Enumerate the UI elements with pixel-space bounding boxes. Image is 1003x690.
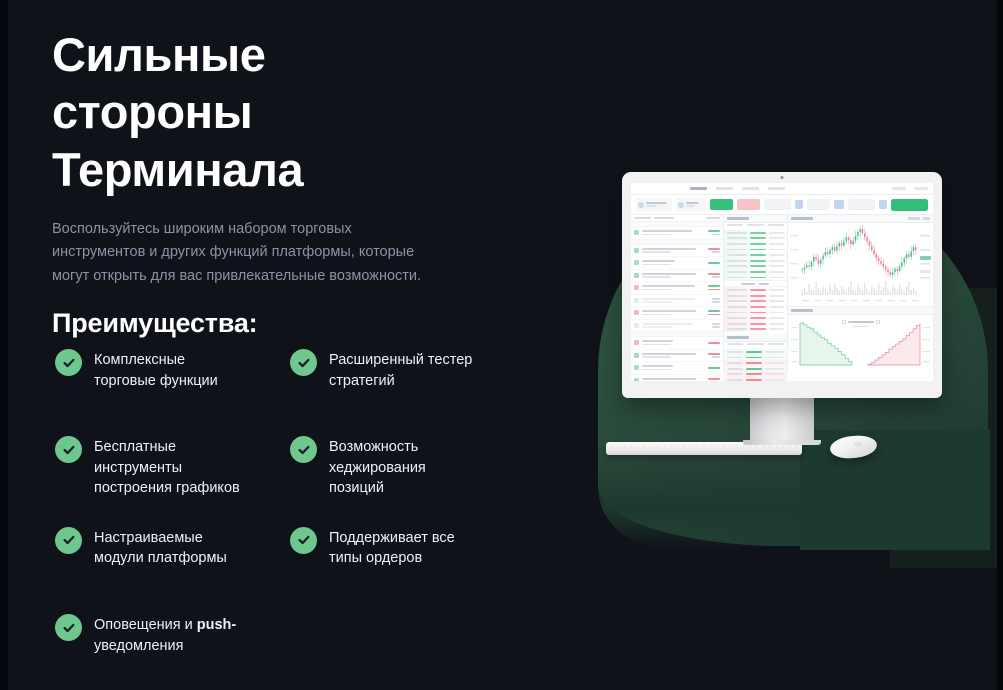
- col-time: [768, 343, 784, 345]
- status-icon: [634, 230, 639, 235]
- pair-selector[interactable]: [676, 198, 707, 211]
- depth-legend: [842, 320, 880, 327]
- order-values: [708, 248, 720, 253]
- keyboard-keys: [611, 445, 797, 449]
- order-type-field[interactable]: [764, 199, 791, 210]
- order-label: [642, 273, 705, 278]
- status-icon: [634, 340, 639, 345]
- market-depth-header: [788, 307, 933, 315]
- order-label: [642, 353, 705, 358]
- hero-description: Воспользуйтесь широким набором торговых …: [52, 218, 504, 288]
- list-item-label: Бесплатные инструменты построения график…: [94, 435, 240, 499]
- benefits-list: Комплексные торговые функции Бесплатные …: [55, 348, 535, 656]
- amount-unit-chip[interactable]: [834, 200, 845, 209]
- charts-column: [788, 215, 933, 372]
- status-icon: [634, 273, 639, 278]
- order-values: [712, 298, 720, 303]
- status-icon: [634, 298, 639, 303]
- status-icon: [634, 310, 639, 315]
- order-list-filters[interactable]: [631, 215, 723, 222]
- table-row[interactable]: [631, 350, 723, 363]
- list-item-label-bold: push-: [197, 617, 236, 633]
- trade-history-columns: [724, 342, 787, 349]
- filter-sort[interactable]: [706, 217, 720, 219]
- topbar-action-1[interactable]: [892, 187, 906, 190]
- order-label: [642, 248, 705, 253]
- check-circle-icon: [55, 349, 82, 376]
- list-item: Возможность хеджирования позиций: [290, 435, 515, 499]
- list-item-label: Комплексные торговые функции: [94, 348, 218, 391]
- order-label: [642, 230, 705, 235]
- list-item-label: Расширенный тестер стратегий: [329, 348, 472, 391]
- benefits-column-left: Комплексные торговые функции Бесплатные …: [55, 348, 290, 656]
- table-row[interactable]: [724, 327, 787, 333]
- webcam-icon: [781, 176, 784, 179]
- pair-icon: [678, 202, 684, 208]
- check-circle-icon: [55, 614, 82, 641]
- total-unit-chip[interactable]: [879, 200, 887, 209]
- col-trade-price: [747, 343, 763, 345]
- order-values: [708, 342, 720, 344]
- list-item: Расширенный тестер стратегий: [290, 348, 515, 391]
- monitor: [622, 172, 942, 445]
- order-values: [708, 262, 720, 264]
- topbar-action-2[interactable]: [914, 187, 928, 190]
- list-item: Настраиваемые модули платформы: [55, 526, 290, 569]
- terminal-tabs: [690, 187, 785, 190]
- monitor-bezel: [622, 172, 942, 398]
- status-icon: [634, 323, 639, 328]
- list-item-label: Возможность хеджирования позиций: [329, 435, 426, 499]
- page-title: Сильные стороны Терминала: [52, 26, 552, 198]
- depth-legend-row: [842, 320, 880, 324]
- order-book-title: [727, 217, 749, 219]
- filter-open[interactable]: [654, 217, 674, 219]
- status-icon: [634, 353, 639, 358]
- terminal-topbar-right: [892, 187, 928, 190]
- order-label: [642, 365, 705, 370]
- check-circle-icon: [290, 349, 317, 376]
- col-my-size: [768, 224, 784, 226]
- list-item: Бесплатные инструменты построения график…: [55, 435, 290, 499]
- order-values: [708, 353, 720, 358]
- order-values: [712, 323, 720, 328]
- market-price-chart: [788, 223, 933, 307]
- table-row[interactable]: [631, 270, 723, 283]
- check-circle-icon: [290, 527, 317, 554]
- orderbook-history-column: [724, 215, 788, 372]
- tab-account[interactable]: [742, 187, 759, 190]
- status-icon: [634, 260, 639, 265]
- order-type-chip[interactable]: [795, 200, 803, 209]
- slide-root: Сильные стороны Терминала Воспользуйтесь…: [0, 0, 1003, 690]
- instrument-icon: [638, 202, 644, 208]
- amount-field[interactable]: [807, 199, 830, 210]
- check-circle-icon: [290, 436, 317, 463]
- market-depth-title: [791, 309, 813, 311]
- tab-wallet[interactable]: [716, 187, 733, 190]
- order-label: [642, 340, 705, 345]
- table-row[interactable]: [631, 320, 723, 333]
- status-icon: [634, 378, 639, 381]
- chart-timeframe-control[interactable]: [908, 217, 920, 219]
- buy-button[interactable]: [710, 199, 733, 210]
- order-label: [642, 298, 709, 303]
- trade-history-header: [724, 334, 787, 342]
- list-item: Комплексные торговые функции: [55, 348, 290, 391]
- terminal-body: [631, 215, 933, 372]
- legend-swatch-bid: [842, 320, 846, 324]
- place-order-button[interactable]: [891, 199, 928, 211]
- pair-label: [686, 202, 705, 207]
- legend-swatch-ask: [876, 320, 880, 324]
- monitor-stand-foot: [743, 440, 821, 445]
- tab-settings[interactable]: [768, 187, 785, 190]
- sell-button[interactable]: [737, 199, 760, 210]
- list-item-label-prefix: Оповещения и: [94, 617, 197, 633]
- order-list-panel: [631, 215, 724, 372]
- list-item-label-suffix: уведомления: [94, 638, 184, 654]
- chart-settings-icon[interactable]: [923, 217, 930, 219]
- status-icon: [634, 365, 639, 370]
- order-label: [642, 310, 705, 315]
- table-row[interactable]: [631, 337, 723, 350]
- check-circle-icon: [55, 527, 82, 554]
- list-item-label: Оповещения и push- уведомления: [94, 613, 236, 656]
- order-values: [708, 378, 720, 381]
- table-row[interactable]: [631, 245, 723, 258]
- table-row[interactable]: [631, 375, 723, 382]
- market-depth-chart: [788, 315, 933, 379]
- market-price-title: [791, 217, 813, 219]
- trade-history-title: [727, 336, 749, 338]
- terminal-topbar: [631, 183, 933, 195]
- list-item: Оповещения и push- уведомления: [55, 613, 290, 656]
- table-row[interactable]: [724, 377, 787, 381]
- check-circle-icon: [55, 436, 82, 463]
- monitor-stand-neck: [750, 398, 814, 440]
- order-label: [642, 260, 705, 265]
- col-quantity: [727, 343, 743, 345]
- order-values: [708, 230, 720, 235]
- background-blob-mask: [800, 430, 990, 550]
- filter-all[interactable]: [634, 217, 651, 219]
- col-price: [747, 224, 763, 226]
- order-values: [708, 310, 720, 315]
- total-field[interactable]: [848, 199, 875, 210]
- table-row[interactable]: [631, 257, 723, 270]
- instrument-selector[interactable]: [636, 198, 672, 211]
- benefits-heading: Преимущества:: [52, 308, 552, 339]
- depth-legend-sub: [852, 326, 869, 328]
- tab-exchange[interactable]: [690, 187, 707, 190]
- table-row[interactable]: [631, 282, 723, 295]
- hero-text-block: Сильные стороны Терминала Воспользуйтесь…: [52, 26, 552, 339]
- spread-row: [724, 280, 787, 287]
- order-label: [642, 323, 709, 328]
- candlestick-svg: [788, 223, 933, 307]
- terminal-toolbar: [631, 195, 933, 215]
- list-item-label: Настраиваемые модули платформы: [94, 526, 227, 569]
- order-label: [642, 285, 705, 290]
- col-market-size: [727, 224, 743, 226]
- list-item-label: Поддерживает все типы ордеров: [329, 526, 455, 569]
- list-item: Поддерживает все типы ордеров: [290, 526, 515, 569]
- instrument-label: [646, 202, 670, 207]
- order-book-header: [724, 215, 787, 223]
- table-row[interactable]: [631, 307, 723, 320]
- benefits-column-right: Расширенный тестер стратегий Возможность…: [290, 348, 515, 656]
- monitor-screen: [631, 183, 933, 381]
- table-row[interactable]: [631, 227, 723, 240]
- status-icon: [634, 248, 639, 253]
- order-values: [708, 273, 720, 278]
- legend-label: [848, 321, 874, 323]
- market-price-header: [788, 215, 933, 223]
- status-icon: [634, 285, 639, 290]
- order-values: [708, 367, 720, 369]
- order-book-columns: [724, 223, 787, 230]
- table-row[interactable]: [631, 295, 723, 308]
- order-values: [708, 285, 720, 290]
- order-label: [642, 378, 705, 381]
- table-row[interactable]: [631, 362, 723, 375]
- device-illustration: [560, 140, 1003, 540]
